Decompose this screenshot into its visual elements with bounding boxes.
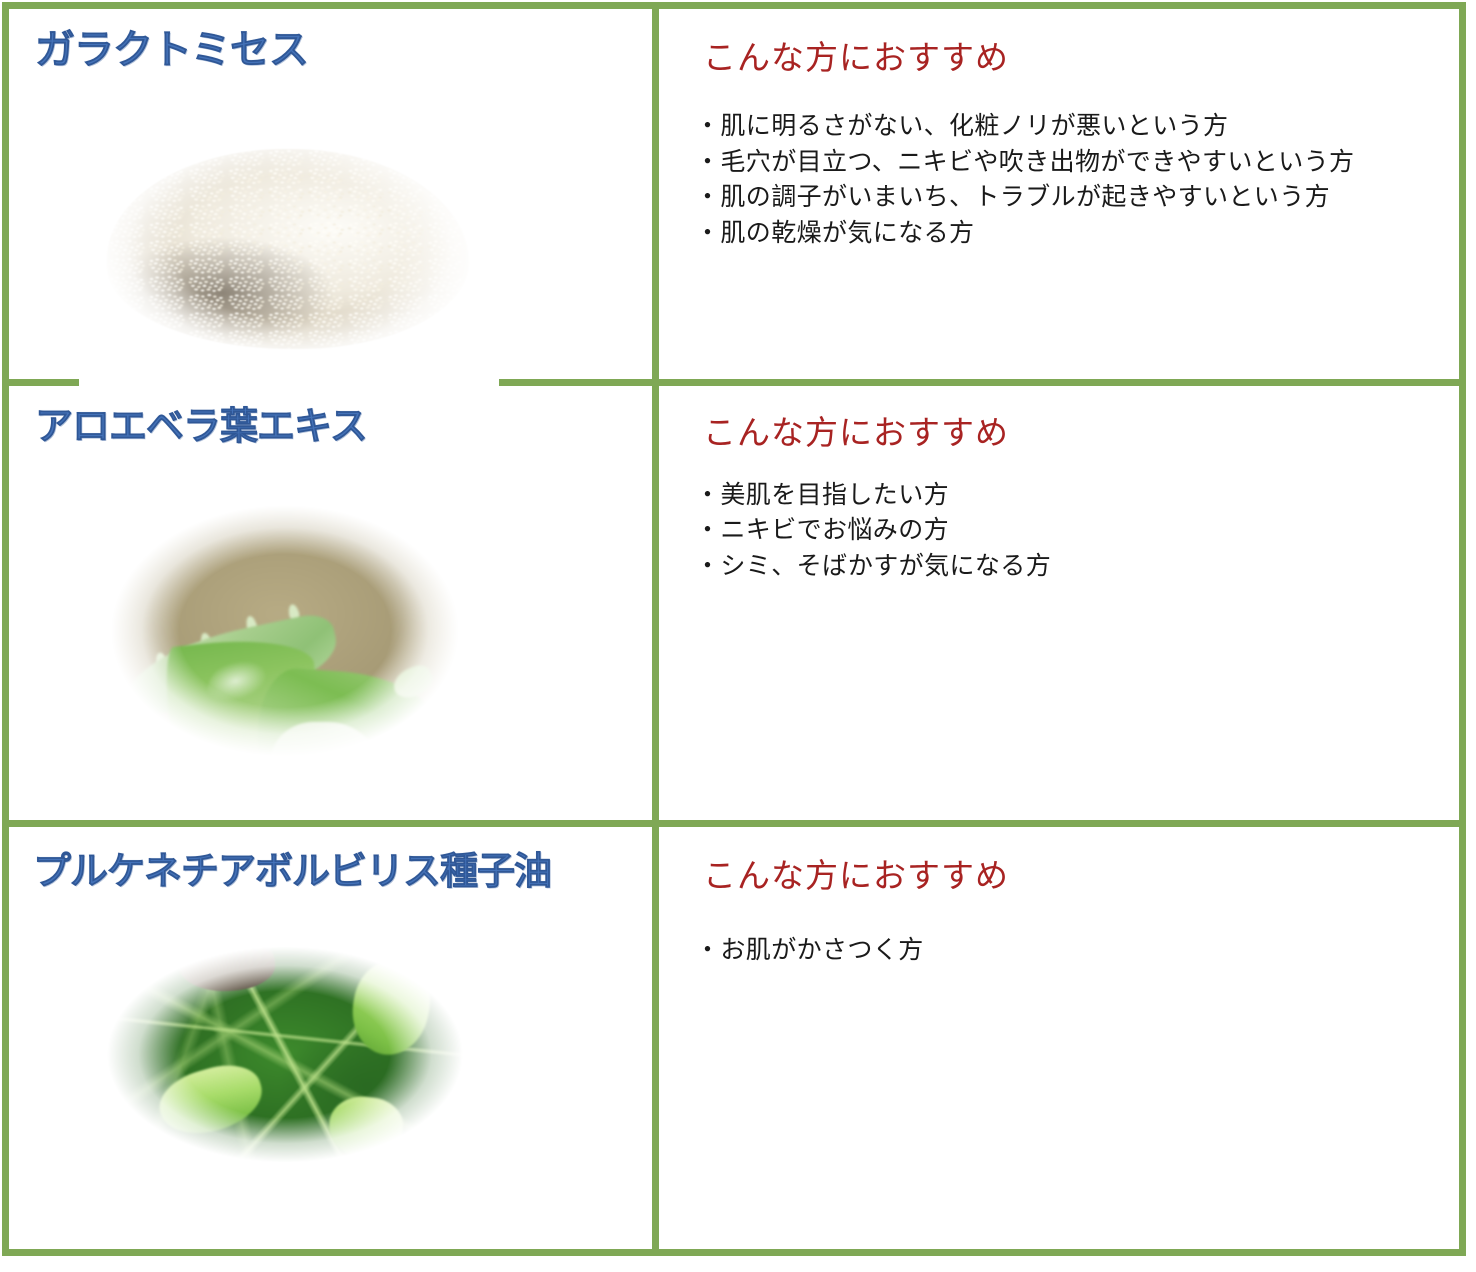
photo-vignette: [75, 927, 495, 1182]
recommend-list: ・美肌を目指したい方 ・ニキビでお悩みの方 ・シミ、そばかすが気になる方: [695, 478, 1051, 585]
list-item: ・シミ、そばかすが気になる方: [695, 549, 1051, 585]
ingredient-name: ガラクトミセス: [35, 29, 308, 71]
list-item: ・肌の調子がいまいち、トラブルが起きやすいという方: [695, 180, 1354, 216]
rice-grains-photo: [79, 121, 499, 386]
recommendation-cell: こんな方におすすめ ・美肌を目指したい方 ・ニキビでお悩みの方 ・シミ、そばかす…: [656, 382, 1463, 823]
list-item: ・美肌を目指したい方: [695, 478, 1051, 514]
sacha-inchi-plant-photo: [75, 927, 495, 1182]
ingredient-name: アロエベラ葉エキス: [35, 408, 367, 448]
aloe-vera-leaf-photo: [75, 482, 495, 792]
table-row: プルケネチアボルビリス種子油: [6, 823, 1463, 1252]
photo-vignette: [79, 121, 499, 386]
page-root: ガラクトミセス こんな方におすすめ: [0, 0, 1476, 1272]
recommend-list: ・お肌がかさつく方: [695, 933, 924, 969]
table-row: アロエベラ葉エキス: [6, 382, 1463, 823]
ingredient-name: プルケネチアボルビリス種子油: [33, 853, 551, 893]
list-item: ・ニキビでお悩みの方: [695, 513, 1051, 549]
recommendation-cell: こんな方におすすめ ・肌に明るさがない、化粧ノリが悪いという方 ・毛穴が目立つ、…: [656, 6, 1463, 383]
ingredient-cell: プルケネチアボルビリス種子油: [6, 823, 656, 1252]
recommend-heading: こんな方におすすめ: [703, 406, 1009, 454]
list-item: ・毛穴が目立つ、ニキビや吹き出物ができやすいという方: [695, 145, 1354, 181]
recommend-heading: こんな方におすすめ: [703, 31, 1009, 79]
list-item: ・肌に明るさがない、化粧ノリが悪いという方: [695, 109, 1354, 145]
photo-vignette: [75, 482, 495, 792]
list-item: ・お肌がかさつく方: [695, 933, 924, 969]
recommendation-cell: こんな方におすすめ ・お肌がかさつく方: [656, 823, 1463, 1252]
recommend-heading: こんな方におすすめ: [703, 849, 1009, 897]
list-item: ・肌の乾燥が気になる方: [695, 216, 1354, 252]
ingredient-table: ガラクトミセス こんな方におすすめ: [2, 2, 1466, 1256]
recommend-list: ・肌に明るさがない、化粧ノリが悪いという方 ・毛穴が目立つ、ニキビや吹き出物がで…: [695, 109, 1354, 251]
ingredient-cell: ガラクトミセス: [6, 6, 656, 383]
ingredient-cell: アロエベラ葉エキス: [6, 382, 656, 823]
table-row: ガラクトミセス こんな方におすすめ: [6, 6, 1463, 383]
